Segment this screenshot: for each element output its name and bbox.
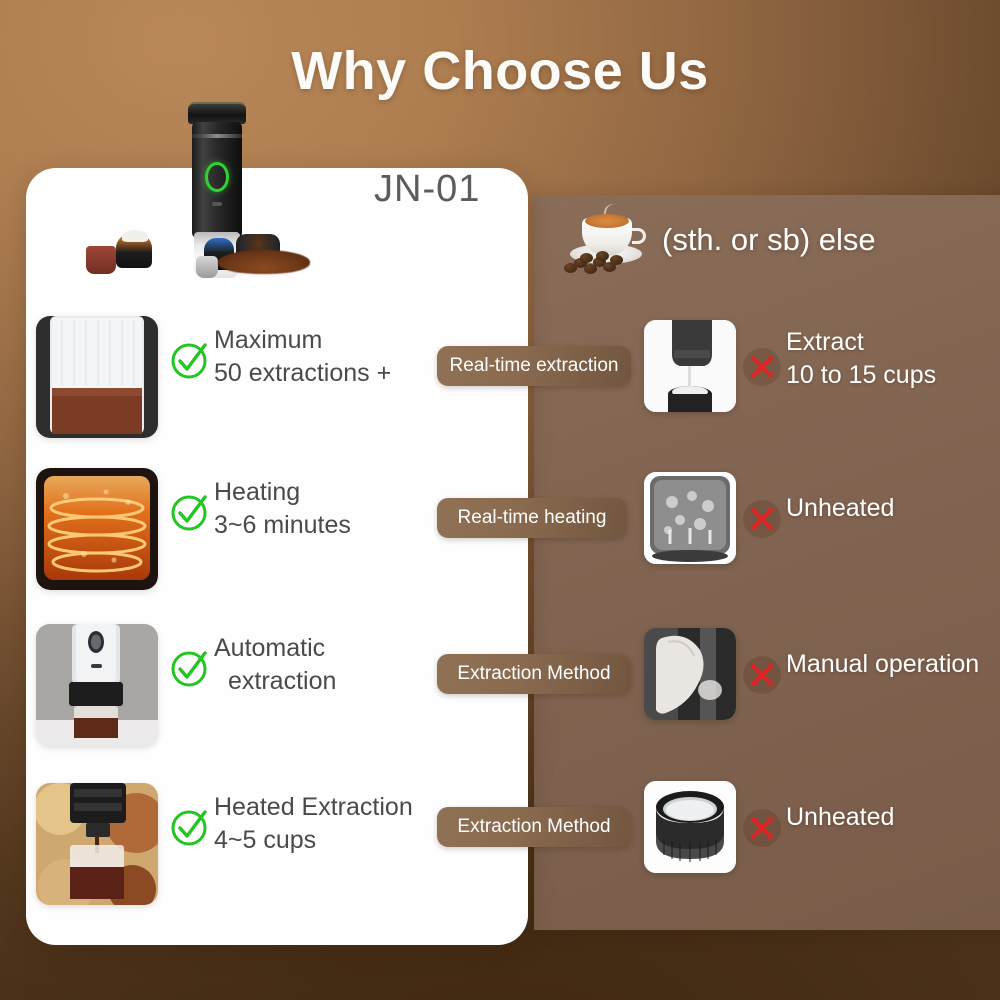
product-thumbnail [36,783,158,905]
green-check-circle-icon [168,646,212,690]
product-feature-line1: Automatic [214,634,325,662]
competitor-thumbnail [644,781,736,873]
comparison-category-badge: Real-time heating [437,498,627,538]
comparison-category-badge: Real-time extraction [437,346,631,386]
competitor-feature-line1: Extract [786,328,864,356]
comparison-category-badge: Extraction Method [437,807,631,847]
competitor-feature-line1: Unheated [786,494,894,522]
red-x-circle-icon [742,655,782,695]
product-feature-line2: 4~5 cups [214,824,464,857]
competitor-thumbnail [644,320,736,412]
comparison-row: Automatic extraction Extraction Method M… [0,618,1000,768]
green-check-circle-icon [168,338,212,382]
product-thumbnail [36,316,158,438]
product-feature-line2: 3~6 minutes [214,509,444,542]
competitor-feature-line1: Unheated [786,803,894,831]
competitor-feature-line1: Manual operation [786,650,979,678]
product-feature-line1: Maximum [214,326,322,354]
green-check-circle-icon [168,805,212,849]
competitor-feature-text: Extract 10 to 15 cups [786,326,936,393]
comparison-row: Maximum 50 extractions + Real-time extra… [0,310,1000,460]
product-feature-text: Automatic extraction [214,632,444,699]
product-feature-line1: Heated Extraction [214,793,413,821]
competitor-feature-text: Unheated [786,801,894,834]
red-x-circle-icon [742,808,782,848]
competitor-thumbnail [644,472,736,564]
comparison-category-badge: Extraction Method [437,654,631,694]
comparison-row: Heated Extraction 4~5 cups Extraction Me… [0,777,1000,927]
product-feature-line2: 50 extractions + [214,357,444,390]
product-feature-line2: extraction [214,665,444,698]
product-feature-text: Heated Extraction 4~5 cups [214,791,464,858]
product-feature-line1: Heating [214,478,300,506]
product-thumbnail [36,624,158,746]
product-thumbnail [36,468,158,590]
competitor-feature-line2: 10 to 15 cups [786,361,936,389]
green-check-circle-icon [168,490,212,534]
competitor-feature-text: Unheated [786,492,894,525]
red-x-circle-icon [742,499,782,539]
product-feature-text: Heating 3~6 minutes [214,476,444,543]
product-feature-text: Maximum 50 extractions + [214,324,444,391]
comparison-rows: Maximum 50 extractions + Real-time extra… [0,0,1000,1000]
comparison-row: Heating 3~6 minutes Real-time heating [0,462,1000,612]
red-x-circle-icon [742,347,782,387]
competitor-thumbnail [644,628,736,720]
competitor-feature-text: Manual operation [786,648,979,681]
